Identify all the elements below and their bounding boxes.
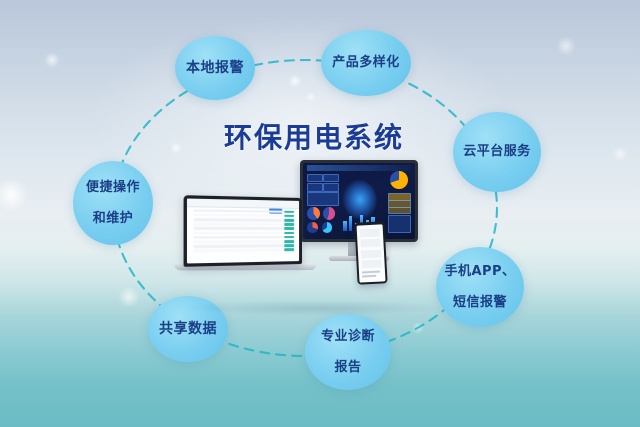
node-label-cloud-platform: 云平台服务	[459, 144, 535, 159]
device-group	[190, 160, 440, 310]
table-header	[187, 199, 299, 209]
node-label-local-alarm: 本地报警	[182, 60, 248, 77]
gauge-donut-2	[323, 207, 335, 220]
smartphone	[354, 221, 387, 284]
node-label-mobile-app-sms: 手机APP、 短信报警	[440, 264, 519, 310]
page-title: 环保用电系统	[224, 116, 454, 156]
node-line-1: 便捷操作	[82, 180, 144, 195]
gauge-donut-1	[307, 207, 319, 220]
poster-canvas: 本地报警 产品多样化 云平台服务 手机APP、 短信报警 专业诊断 报告 共享数…	[0, 0, 640, 427]
node-line-2: 报告	[317, 360, 379, 375]
gauge-donut-3	[307, 222, 317, 233]
node-line-2: 和维护	[82, 211, 144, 226]
gauge-donut-4	[322, 222, 332, 233]
node-line-1: 手机APP、	[440, 264, 519, 279]
node-line-1: 专业诊断	[317, 329, 379, 344]
laptop-computer	[184, 195, 302, 267]
table-screen	[187, 199, 299, 264]
node-easy-operation[interactable]: 便捷操作 和维护	[73, 161, 153, 245]
node-local-alarm[interactable]: 本地报警	[175, 36, 255, 100]
node-cloud-platform[interactable]: 云平台服务	[453, 112, 541, 192]
node-diagnostic-report[interactable]: 专业诊断 报告	[305, 314, 391, 390]
node-label-shared-data: 共享数据	[155, 321, 221, 338]
mobile-list-screen	[357, 224, 386, 282]
node-mobile-app-sms[interactable]: 手机APP、 短信报警	[436, 247, 524, 327]
node-line-2: 短信报警	[440, 295, 519, 310]
node-label-easy-operation: 便捷操作 和维护	[82, 180, 144, 226]
dashboard-header	[307, 165, 410, 170]
gauge-donut-main	[390, 171, 408, 189]
china-map-visual	[343, 180, 377, 220]
node-product-diversity[interactable]: 产品多样化	[321, 30, 411, 96]
node-label-diagnostic-report: 专业诊断 报告	[317, 329, 379, 375]
node-label-product-diversity: 产品多样化	[328, 55, 404, 70]
